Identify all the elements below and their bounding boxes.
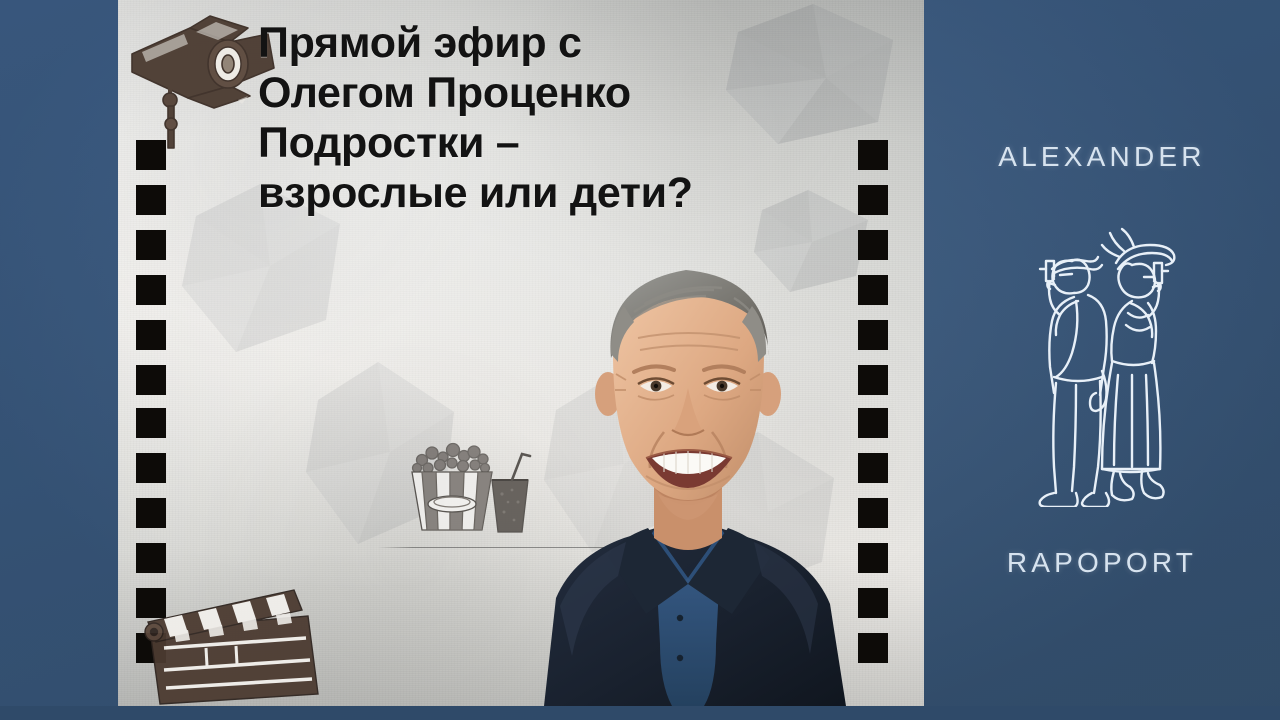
film-perforation bbox=[858, 365, 888, 395]
film-perforation bbox=[136, 453, 166, 483]
page-title: Прямой эфир с Олегом Проценко Подростки … bbox=[258, 18, 778, 218]
polygon-shape-lower-right bbox=[678, 430, 848, 600]
film-perforation bbox=[858, 185, 888, 215]
brand-logo: ALEXANDER bbox=[924, 0, 1280, 720]
film-perforation bbox=[858, 275, 888, 305]
film-perforation bbox=[858, 408, 888, 438]
film-perforation bbox=[136, 185, 166, 215]
film-perforation bbox=[858, 453, 888, 483]
brand-name-last: RAPOPORT bbox=[1007, 547, 1197, 579]
popcorn-and-soda-icon bbox=[400, 432, 535, 537]
poster-panel: Прямой эфир с Олегом Проценко Подростки … bbox=[118, 0, 924, 706]
film-perforation bbox=[136, 275, 166, 305]
film-perforation bbox=[136, 498, 166, 528]
film-perforation bbox=[858, 140, 888, 170]
film-perforation bbox=[858, 230, 888, 260]
film-perforation bbox=[136, 408, 166, 438]
film-perforation bbox=[136, 365, 166, 395]
film-perforation bbox=[858, 633, 888, 663]
duel-figures-icon bbox=[1002, 217, 1202, 507]
film-perforation bbox=[136, 230, 166, 260]
film-perforation bbox=[858, 320, 888, 350]
polygon-shape-behind-snacks bbox=[538, 376, 698, 556]
poster-canvas: Прямой эфир с Олегом Проценко Подростки … bbox=[0, 0, 1280, 720]
clapperboard-icon bbox=[136, 586, 336, 706]
film-perforation bbox=[858, 588, 888, 618]
film-perforation bbox=[858, 543, 888, 573]
divider-line bbox=[378, 547, 668, 548]
film-perforation bbox=[136, 543, 166, 573]
film-perforation bbox=[858, 498, 888, 528]
film-perforation bbox=[136, 320, 166, 350]
film-strip-right bbox=[858, 0, 918, 706]
brand-name-first: ALEXANDER bbox=[998, 141, 1205, 173]
